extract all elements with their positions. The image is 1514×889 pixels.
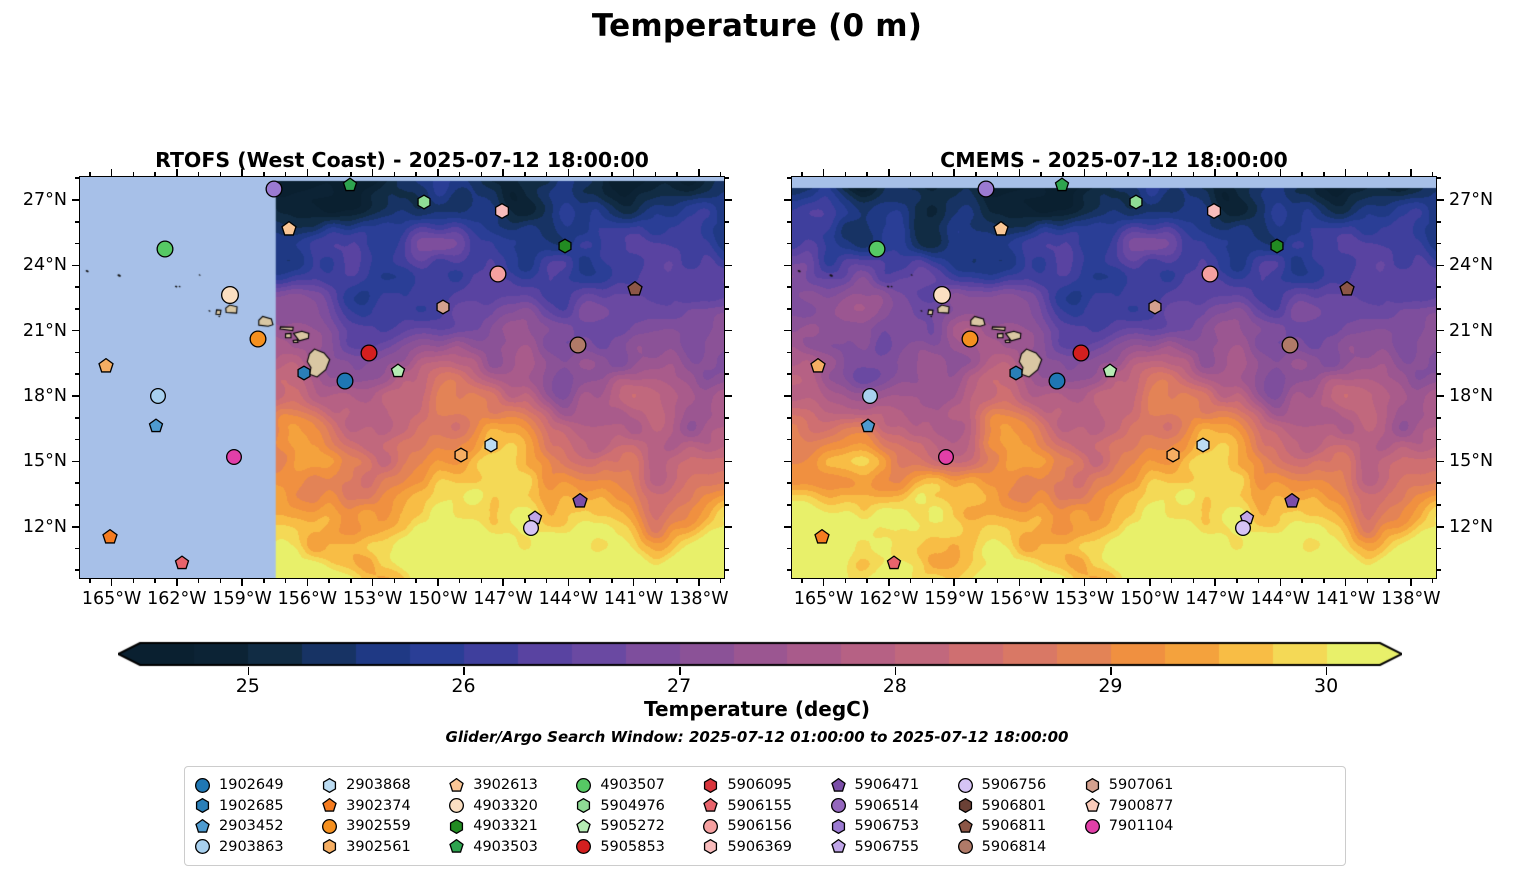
x-axis-tick-top	[1040, 172, 1042, 176]
x-axis-tick-top	[1236, 172, 1238, 176]
float-marker-2903863[interactable]	[862, 388, 878, 408]
x-axis-tick-major	[888, 579, 890, 586]
legend-item-2903863[interactable]: 2903863	[195, 837, 318, 858]
legend-item-3902374[interactable]: 3902374	[322, 796, 445, 817]
x-axis-tick-top	[1345, 169, 1347, 176]
y-axis-tick-left	[784, 395, 791, 397]
x-axis-tick-minor	[1236, 579, 1238, 583]
y-axis-tick-right	[1437, 199, 1444, 201]
float-marker-2903452[interactable]	[861, 418, 876, 437]
y-axis-tick-right	[725, 504, 729, 506]
y-axis-tick-right	[1437, 482, 1441, 484]
float-marker-5906369[interactable]	[1206, 203, 1222, 223]
legend-marker-hexagon-icon	[831, 819, 846, 834]
y-axis-tick-right	[1437, 461, 1444, 463]
x-axis-tick-top	[823, 169, 825, 176]
y-axis-tick-right	[725, 569, 729, 571]
page-title: Temperature (0 m)	[0, 8, 1514, 44]
y-axis-tick-left	[787, 177, 791, 179]
float-marker-5905853[interactable]	[1073, 344, 1090, 365]
float-marker-5906753[interactable]	[977, 181, 994, 202]
x-axis-tick-top	[1367, 172, 1369, 176]
x-axis-label: 138°W	[1381, 589, 1440, 609]
float-marker-3902374[interactable]	[810, 358, 826, 378]
x-axis-tick-minor	[1388, 579, 1390, 583]
y-axis-tick-left	[72, 330, 79, 332]
y-axis-tick-left	[75, 439, 79, 441]
float-marker-5906471[interactable]	[1284, 493, 1300, 513]
legend-label: 1902649	[219, 778, 284, 793]
x-axis-tick-minor	[932, 579, 934, 583]
x-axis-tick-minor	[589, 579, 591, 583]
x-axis-tick-top	[1084, 169, 1086, 176]
x-axis-label: 147°W	[1185, 589, 1244, 609]
y-axis-tick-left	[784, 199, 791, 201]
float-marker-4903320[interactable]	[221, 286, 239, 308]
legend-item-5906156[interactable]: 5906156	[703, 816, 826, 837]
legend-marker-circle-icon	[831, 798, 846, 813]
x-axis-tick-minor	[328, 579, 330, 583]
x-axis-tick-top	[111, 169, 113, 176]
legend-marker-hexagon-icon	[958, 798, 973, 813]
y-axis-tick-left	[787, 373, 791, 375]
x-axis-tick-top	[1127, 172, 1129, 176]
x-axis-tick-minor	[546, 579, 548, 583]
y-axis-tick-left	[75, 569, 79, 571]
y-axis-tick-left	[787, 286, 791, 288]
legend-label: 5906801	[982, 799, 1047, 814]
float-marker-5906811[interactable]	[1339, 281, 1355, 301]
y-axis-label: 12°N	[1449, 517, 1493, 537]
x-axis-tick-minor	[350, 579, 352, 583]
float-marker-5907061[interactable]	[436, 299, 451, 318]
x-axis-tick-top	[1258, 172, 1260, 176]
x-axis-label: 162°W	[859, 589, 918, 609]
legend-marker-circle-icon	[195, 778, 210, 793]
float-marker-7901104[interactable]	[938, 449, 954, 469]
x-axis-tick-minor	[655, 579, 657, 583]
y-axis-label: 27°N	[1449, 190, 1493, 210]
legend-marker-pentagon-icon	[958, 819, 973, 834]
legend-empty-cell	[1212, 796, 1335, 817]
float-legend: 1902649190268529034522903863290386839023…	[184, 766, 1346, 866]
legend-label: 5906155	[727, 799, 792, 814]
x-axis-tick-top	[1388, 172, 1390, 176]
float-marker-5906811[interactable]	[627, 281, 643, 301]
y-axis-label: 24°N	[1449, 255, 1493, 275]
y-axis-tick-left	[75, 243, 79, 245]
colorbar-label: Temperature (degC)	[0, 697, 1514, 721]
map-frame-rtofs[interactable]	[79, 176, 725, 579]
float-marker-5906471[interactable]	[572, 493, 588, 513]
legend-item-4903321[interactable]: 4903321	[449, 816, 572, 837]
y-axis-tick-right	[725, 417, 729, 419]
legend-marker-circle-icon	[703, 819, 718, 834]
y-axis-tick-right	[1437, 243, 1441, 245]
y-axis-tick-right	[1437, 352, 1441, 354]
x-axis-tick-top	[1432, 172, 1434, 176]
float-marker-5906155[interactable]	[175, 555, 190, 574]
legend-marker-hexagon-icon	[449, 819, 464, 834]
legend-label: 5906756	[982, 778, 1047, 793]
x-axis-tick-major	[1410, 579, 1412, 586]
y-axis-tick-right	[1437, 286, 1441, 288]
y-axis-label: 18°N	[1449, 386, 1493, 406]
legend-marker-circle-icon	[576, 839, 591, 854]
colorbar-tick-label: 27	[667, 675, 691, 697]
x-axis-tick-top	[720, 172, 722, 176]
y-axis-tick-left	[787, 504, 791, 506]
x-axis-tick-major	[823, 579, 825, 586]
x-axis-label: 150°W	[1120, 589, 1179, 609]
y-axis-tick-left	[75, 352, 79, 354]
float-marker-5906814[interactable]	[1282, 336, 1299, 357]
float-marker-3902374[interactable]	[98, 358, 114, 378]
y-axis-tick-left	[787, 569, 791, 571]
legend-marker-pentagon-icon	[831, 778, 846, 793]
y-axis-label: 15°N	[23, 451, 67, 471]
x-axis-tick-major	[953, 579, 955, 586]
legend-marker-circle-icon	[1085, 819, 1100, 834]
float-marker-2903868[interactable]	[484, 438, 499, 457]
float-marker-4903507[interactable]	[156, 241, 173, 262]
float-marker-5906156[interactable]	[489, 266, 506, 287]
y-axis-label: 12°N	[23, 517, 67, 537]
x-axis-tick-top	[655, 172, 657, 176]
y-axis-tick-left	[784, 265, 791, 267]
x-axis-tick-top	[154, 172, 156, 176]
x-axis-tick-major	[1019, 579, 1021, 586]
x-axis-tick-top	[997, 172, 999, 176]
x-axis-tick-major	[241, 579, 243, 586]
legend-marker-circle-icon	[195, 839, 210, 854]
y-axis-tick-left	[75, 482, 79, 484]
float-marker-5905272[interactable]	[390, 364, 405, 383]
x-axis-tick-minor	[1193, 579, 1195, 583]
legend-empty-cell	[1212, 775, 1335, 796]
y-axis-tick-left	[75, 548, 79, 550]
x-axis-tick-minor	[1258, 579, 1260, 583]
legend-marker-circle-icon	[958, 778, 973, 793]
legend-empty-cell	[1212, 816, 1335, 837]
legend-label: 5906095	[727, 778, 792, 793]
legend-marker-hexagon-icon	[1085, 778, 1100, 793]
float-marker-4903320[interactable]	[933, 286, 951, 308]
colorbar-tick	[463, 667, 464, 675]
x-axis-tick-minor	[611, 579, 613, 583]
x-axis-tick-minor	[910, 579, 912, 583]
x-axis-tick-top	[437, 169, 439, 176]
x-axis-tick-major	[372, 579, 374, 586]
x-axis-tick-top	[801, 172, 803, 176]
y-axis-label: 18°N	[23, 386, 67, 406]
float-marker-5906756[interactable]	[523, 520, 539, 540]
legend-item-2903868[interactable]: 2903868	[322, 775, 445, 796]
float-marker-5906814[interactable]	[570, 336, 587, 357]
legend-item-5906811[interactable]: 5906811	[958, 816, 1081, 837]
colorbar-tick-label: 30	[1314, 675, 1338, 697]
y-axis-tick-right	[725, 395, 732, 397]
y-axis-label: 27°N	[23, 190, 67, 210]
legend-item-5906369[interactable]: 5906369	[703, 837, 826, 858]
y-axis-tick-left	[784, 526, 791, 528]
y-axis-tick-right	[1437, 526, 1444, 528]
map-frame-cmems[interactable]	[791, 176, 1437, 579]
x-axis-label: 141°W	[604, 589, 663, 609]
y-axis-tick-left	[75, 504, 79, 506]
y-axis-tick-right	[725, 177, 729, 179]
x-axis-tick-major	[568, 579, 570, 586]
legend-label: 7900877	[1109, 799, 1174, 814]
legend-label: 5906814	[982, 840, 1047, 855]
x-axis-label: 138°W	[669, 589, 728, 609]
float-marker-1902685[interactable]	[297, 366, 312, 385]
float-marker-5906369[interactable]	[494, 203, 510, 223]
colorbar-tick-label: 29	[1098, 675, 1122, 697]
x-axis-tick-minor	[133, 579, 135, 583]
y-axis-tick-left	[75, 308, 79, 310]
x-axis-tick-minor	[263, 579, 265, 583]
x-axis-tick-top	[328, 172, 330, 176]
x-axis-tick-minor	[866, 579, 868, 583]
legend-label: 2903863	[219, 840, 284, 855]
float-marker-3902559[interactable]	[250, 331, 267, 352]
x-axis-tick-top	[845, 172, 847, 176]
float-marker-3902561[interactable]	[453, 447, 468, 466]
legend-label: 3902374	[346, 799, 411, 814]
legend-label: 4903321	[473, 819, 538, 834]
x-axis-tick-top	[459, 172, 461, 176]
y-axis-tick-left	[787, 482, 791, 484]
legend-item-5906471[interactable]: 5906471	[831, 775, 954, 796]
y-axis-tick-right	[725, 221, 729, 223]
legend-marker-hexagon-icon	[576, 798, 591, 813]
x-axis-tick-minor	[198, 579, 200, 583]
y-axis-tick-left	[75, 286, 79, 288]
y-axis-tick-right	[725, 482, 729, 484]
float-marker-5906156[interactable]	[1201, 266, 1218, 287]
x-axis-label: 144°W	[539, 589, 598, 609]
y-axis-tick-right	[725, 548, 729, 550]
float-marker-2903868[interactable]	[1196, 438, 1211, 457]
x-axis-tick-top	[1323, 172, 1325, 176]
x-axis-tick-top	[89, 172, 91, 176]
float-marker-4903507[interactable]	[868, 241, 885, 262]
y-axis-label: 21°N	[23, 321, 67, 341]
float-marker-5906155[interactable]	[887, 555, 902, 574]
y-axis-tick-right	[1437, 548, 1441, 550]
float-marker-5904976[interactable]	[416, 195, 431, 214]
x-axis-tick-minor	[720, 579, 722, 583]
float-marker-3902613[interactable]	[993, 221, 1009, 241]
legend-item-5906095[interactable]: 5906095	[703, 775, 826, 796]
x-axis-tick-top	[1301, 172, 1303, 176]
x-axis-label: 159°W	[924, 589, 983, 609]
legend-item-4903507[interactable]: 4903507	[576, 775, 699, 796]
y-axis-tick-right	[725, 265, 732, 267]
y-axis-label: 15°N	[1449, 451, 1493, 471]
legend-item-5906155[interactable]: 5906155	[703, 796, 826, 817]
float-marker-7901104[interactable]	[226, 449, 242, 469]
float-marker-3902374b[interactable]	[814, 529, 830, 549]
x-axis-tick-top	[1214, 169, 1216, 176]
legend-marker-hexagon-icon	[322, 778, 337, 793]
legend-label: 4903503	[473, 840, 538, 855]
legend-marker-hexagon-icon	[703, 778, 718, 793]
float-marker-5906756[interactable]	[1235, 520, 1251, 540]
x-axis-tick-minor	[1367, 579, 1369, 583]
y-axis-tick-right	[725, 526, 732, 528]
x-axis-tick-top	[1062, 172, 1064, 176]
x-axis-label: 165°W	[82, 589, 141, 609]
colorbar-tick-label: 25	[236, 675, 260, 697]
x-axis-tick-major	[437, 579, 439, 586]
y-axis-tick-left	[75, 373, 79, 375]
float-marker-5904976[interactable]	[1128, 195, 1143, 214]
float-marker-5905853[interactable]	[361, 344, 378, 365]
y-axis-tick-left	[72, 461, 79, 463]
legend-item-2903452[interactable]: 2903452	[195, 816, 318, 837]
legend-label: 5906156	[727, 819, 792, 834]
x-axis-tick-minor	[1432, 579, 1434, 583]
x-axis-label: 156°W	[278, 589, 337, 609]
float-marker-4903321[interactable]	[558, 238, 573, 257]
x-axis-tick-top	[198, 172, 200, 176]
x-axis-tick-top	[502, 169, 504, 176]
float-marker-4903503[interactable]	[1054, 177, 1069, 196]
x-axis-label: 153°W	[1055, 589, 1114, 609]
legend-empty-cell	[1085, 837, 1208, 858]
x-axis-label: 144°W	[1251, 589, 1310, 609]
legend-item-5906753[interactable]: 5906753	[831, 816, 954, 837]
legend-marker-pentagon-icon	[449, 839, 464, 854]
y-axis-tick-right	[725, 461, 732, 463]
legend-item-1902685[interactable]: 1902685	[195, 796, 318, 817]
x-axis-tick-top	[953, 169, 955, 176]
float-marker-5906753[interactable]	[265, 181, 282, 202]
y-axis-tick-right	[1437, 177, 1441, 179]
x-axis-tick-top	[975, 172, 977, 176]
legend-label: 5906471	[855, 778, 920, 793]
x-axis-tick-minor	[676, 579, 678, 583]
x-axis-tick-minor	[481, 579, 483, 583]
legend-empty-cell	[1212, 837, 1335, 858]
x-axis-tick-top	[1280, 169, 1282, 176]
float-marker-3902374b[interactable]	[102, 529, 118, 549]
legend-label: 3902613	[473, 778, 538, 793]
legend-item-3902561[interactable]: 3902561	[322, 837, 445, 858]
float-marker-3902613[interactable]	[281, 221, 297, 241]
legend-item-5905272[interactable]: 5905272	[576, 816, 699, 837]
y-axis-tick-left	[787, 243, 791, 245]
x-axis-tick-major	[502, 579, 504, 586]
legend-item-3902613[interactable]: 3902613	[449, 775, 572, 796]
legend-item-7900877[interactable]: 7900877	[1085, 796, 1208, 817]
legend-item-5906801[interactable]: 5906801	[958, 796, 1081, 817]
x-axis-tick-minor	[285, 579, 287, 583]
float-marker-4903321[interactable]	[1270, 238, 1285, 257]
colorbar-tick	[1326, 667, 1327, 675]
legend-marker-pentagon-icon	[195, 819, 210, 834]
legend-item-5906756[interactable]: 5906756	[958, 775, 1081, 796]
float-marker-1902649[interactable]	[337, 372, 354, 393]
x-axis-tick-top	[888, 169, 890, 176]
float-marker-5905272[interactable]	[1102, 364, 1117, 383]
x-axis-tick-top	[481, 172, 483, 176]
x-axis-tick-top	[910, 172, 912, 176]
legend-item-7901104[interactable]: 7901104	[1085, 816, 1208, 837]
colorbar-tick-label: 28	[883, 675, 907, 697]
legend-item-5904976[interactable]: 5904976	[576, 796, 699, 817]
x-axis-tick-major	[1084, 579, 1086, 586]
x-axis-tick-top	[633, 169, 635, 176]
x-axis-tick-top	[394, 172, 396, 176]
x-axis-tick-top	[546, 172, 548, 176]
x-axis-tick-minor	[1323, 579, 1325, 583]
colorbar-tick	[1110, 667, 1111, 675]
legend-item-5905853[interactable]: 5905853	[576, 837, 699, 858]
y-axis-tick-left	[784, 461, 791, 463]
x-axis-tick-major	[1149, 579, 1151, 586]
x-axis-label: 156°W	[990, 589, 1049, 609]
x-axis-label: 165°W	[794, 589, 853, 609]
x-axis-tick-major	[698, 579, 700, 586]
x-axis-tick-top	[676, 172, 678, 176]
float-marker-1902649[interactable]	[1049, 372, 1066, 393]
y-axis-tick-right	[1437, 308, 1441, 310]
x-axis-tick-top	[568, 169, 570, 176]
float-marker-5907061[interactable]	[1148, 299, 1163, 318]
legend-item-5906814[interactable]: 5906814	[958, 837, 1081, 858]
x-axis-tick-minor	[1171, 579, 1173, 583]
colorbar-tick	[895, 667, 896, 675]
x-axis-tick-top	[1171, 172, 1173, 176]
legend-item-4903503[interactable]: 4903503	[449, 837, 572, 858]
x-axis-tick-top	[372, 169, 374, 176]
x-axis-tick-major	[1280, 579, 1282, 586]
legend-item-1902649[interactable]: 1902649	[195, 775, 318, 796]
x-axis-tick-minor	[154, 579, 156, 583]
y-axis-tick-right	[1437, 569, 1441, 571]
y-axis-tick-right	[725, 439, 729, 441]
legend-item-5906755[interactable]: 5906755	[831, 837, 954, 858]
y-axis-tick-right	[1437, 504, 1441, 506]
legend-item-5906514[interactable]: 5906514	[831, 796, 954, 817]
x-axis-tick-top	[1193, 172, 1195, 176]
x-axis-tick-top	[263, 172, 265, 176]
legend-label: 5904976	[600, 799, 665, 814]
float-marker-2903452[interactable]	[149, 418, 164, 437]
float-marker-3902561[interactable]	[1165, 447, 1180, 466]
y-axis-tick-right	[725, 199, 732, 201]
y-axis-tick-right	[1437, 265, 1444, 267]
float-marker-1902685[interactable]	[1009, 366, 1024, 385]
legend-item-5907061[interactable]: 5907061	[1085, 775, 1208, 796]
search-window-caption: Glider/Argo Search Window: 2025-07-12 01…	[0, 728, 1514, 746]
float-marker-4903503[interactable]	[342, 177, 357, 196]
legend-item-3902559[interactable]: 3902559	[322, 816, 445, 837]
y-axis-label: 24°N	[23, 255, 67, 275]
x-axis-tick-top	[415, 172, 417, 176]
x-axis-tick-minor	[459, 579, 461, 583]
x-axis-tick-top	[133, 172, 135, 176]
legend-item-4903320[interactable]: 4903320	[449, 796, 572, 817]
x-axis-tick-minor	[220, 579, 222, 583]
float-marker-2903863[interactable]	[150, 388, 166, 408]
legend-label: 3902559	[346, 819, 411, 834]
x-axis-tick-top	[611, 172, 613, 176]
float-marker-3902559[interactable]	[962, 331, 979, 352]
